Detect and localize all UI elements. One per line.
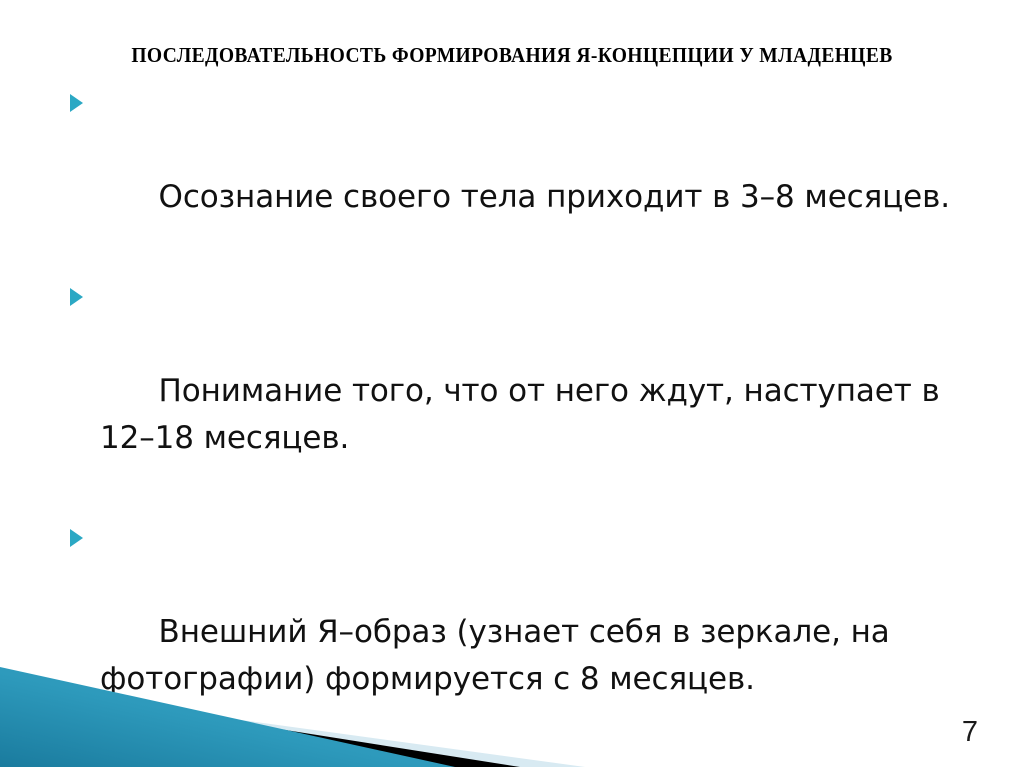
list-item: Узнает о своих физических особенностях и… [66, 756, 976, 767]
list-item-text: Понимание того, что от него ждут, наступ… [100, 373, 949, 456]
list-item-text: Внешний Я–образ (узнает себя в зеркале, … [100, 614, 899, 697]
list-item: Внешний Я–образ (узнает себя в зеркале, … [66, 515, 976, 750]
bullet-list: Осознание своего тела приходит в 3–8 мес… [66, 80, 976, 767]
slide: ПОСЛЕДОВАТЕЛЬНОСТЬ ФОРМИРОВАНИЯ Я-КОНЦЕП… [0, 0, 1024, 767]
list-item-text: Осознание своего тела приходит в 3–8 мес… [159, 179, 951, 215]
triangle-bullet-icon [70, 529, 83, 547]
list-item: Понимание того, что от него ждут, наступ… [66, 274, 976, 509]
triangle-bullet-icon [70, 94, 83, 112]
page-number: 7 [962, 716, 978, 749]
list-item: Осознание своего тела приходит в 3–8 мес… [66, 80, 976, 268]
page-title: ПОСЛЕДОВАТЕЛЬНОСТЬ ФОРМИРОВАНИЯ Я-КОНЦЕП… [92, 42, 933, 68]
triangle-bullet-icon [70, 288, 83, 306]
